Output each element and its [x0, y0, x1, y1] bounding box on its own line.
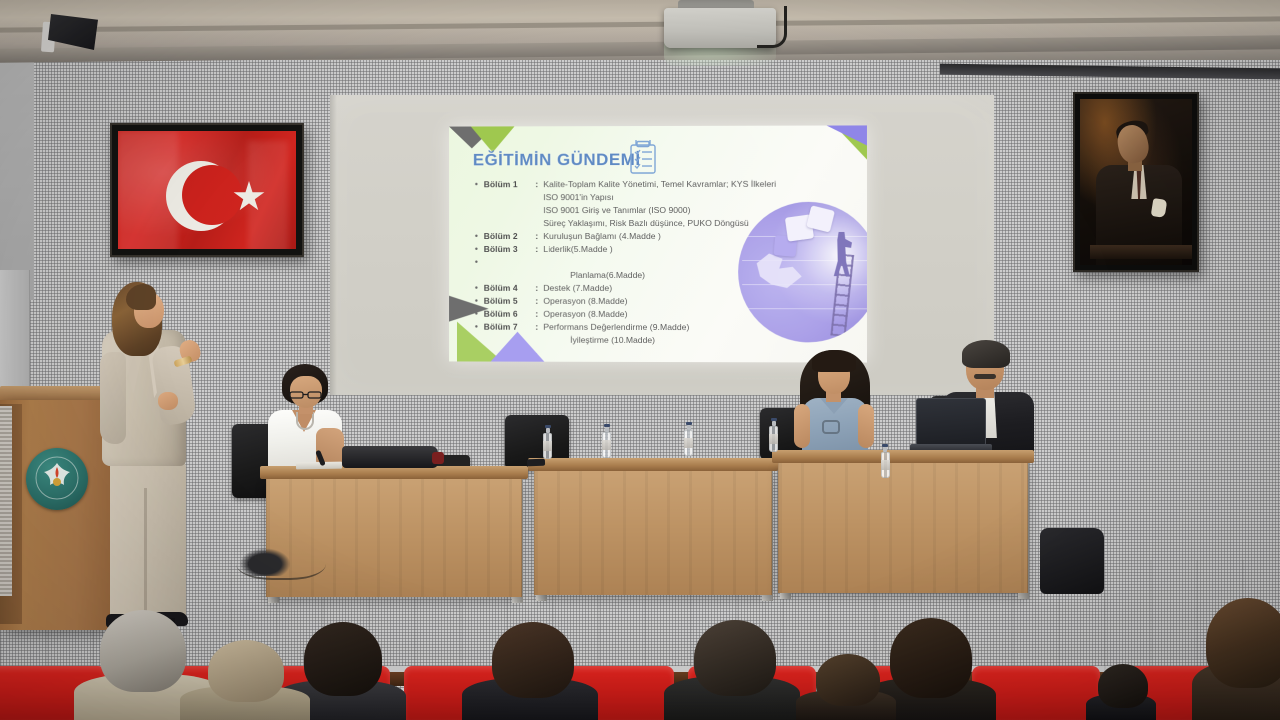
bullet-icon: •	[475, 230, 484, 243]
water-bottle[interactable]	[881, 444, 889, 478]
ataturk-portrait-frame	[1073, 92, 1199, 272]
bottle-body	[684, 430, 693, 456]
panel-table-right	[778, 463, 1028, 593]
presenter-hand-left	[158, 392, 178, 410]
agenda-subtext: İyileştirme (10.Madde)	[475, 334, 835, 348]
bottle-body	[881, 452, 890, 478]
panel-table-left	[266, 479, 522, 597]
presenter-trousers	[110, 458, 186, 618]
bullet-icon: •	[475, 295, 484, 308]
agenda-text: Operasyon (8.Madde)	[543, 295, 627, 308]
agenda-label: Bölüm 5	[484, 295, 536, 308]
audience-member-head	[1206, 598, 1280, 688]
bag-handle[interactable]	[432, 452, 444, 464]
agenda-colon: :	[535, 308, 543, 321]
presenter-leg-seam	[144, 488, 147, 618]
agenda-subtext: Planlama(6.Madde)	[475, 269, 835, 282]
agenda-item: •	[475, 256, 835, 269]
agenda-item: • Bölüm 5 : Operasyon (8.Madde)	[475, 295, 835, 308]
water-bottle[interactable]	[769, 418, 778, 452]
portrait-desk	[1090, 245, 1192, 259]
bottle-body	[543, 433, 552, 459]
torch-flower-icon	[34, 455, 80, 501]
agenda-colon: :	[535, 321, 543, 334]
agenda-label: Bölüm 1	[484, 178, 536, 191]
agenda-subtext: ISO 9001 Giriş ve Tanımlar (ISO 9000)	[475, 204, 835, 217]
panelist-3-hair	[962, 340, 1010, 368]
agenda-text: Liderlik(5.Madde )	[543, 243, 612, 256]
agenda-subtext: Süreç Yaklaşımı, Risk Bazlı düşünce, PUK…	[475, 217, 835, 230]
bullet-icon: •	[475, 308, 484, 321]
agenda-colon: :	[535, 243, 543, 256]
slide-agenda-list: • Bölüm 1 : Kalite-Toplam Kalite Yönetim…	[475, 178, 835, 348]
audience-member-head	[816, 654, 880, 706]
agenda-text: Kuruluşun Bağlamı (4.Madde )	[543, 230, 661, 243]
agenda-text: Destek (7.Madde)	[543, 282, 612, 295]
panel-table-center	[534, 471, 772, 595]
mobile-phone[interactable]	[527, 459, 545, 467]
standing-presenter	[88, 282, 208, 654]
presenter-arm-left	[100, 352, 126, 444]
audience-member-head	[694, 620, 776, 696]
panel-table-center-top	[528, 458, 778, 471]
eyeglasses-icon	[822, 420, 840, 434]
bullet-icon: •	[475, 282, 484, 295]
presentation-slide: EĞİTİMİN GÜNDEMİ • Bölüm 1 :	[449, 125, 867, 362]
conference-hall-scene: EĞİTİMİN GÜNDEMİ • Bölüm 1 :	[0, 0, 1280, 720]
bottle-body	[769, 426, 778, 452]
panelist-3-mustache	[974, 374, 996, 379]
laptop-bag[interactable]	[342, 446, 438, 468]
audience-member-head	[208, 640, 284, 702]
projection-screen-edge	[330, 95, 337, 395]
audience-member-head	[100, 610, 186, 692]
ataturk-portrait	[1080, 99, 1192, 265]
agenda-text: Operasyon (8.Madde)	[543, 308, 627, 321]
bag-on-floor	[1040, 528, 1104, 594]
panel-table-right-top	[772, 450, 1034, 463]
bottle-label	[543, 441, 552, 451]
panelist-2-arm-right	[858, 404, 874, 448]
lectern-grill	[0, 406, 12, 596]
bottle-label	[602, 440, 611, 450]
agenda-label: Bölüm 4	[484, 282, 536, 295]
agenda-label: Bölüm 3	[484, 243, 536, 256]
agenda-colon: :	[535, 295, 543, 308]
water-bottle[interactable]	[602, 424, 611, 458]
water-bottle[interactable]	[543, 425, 552, 459]
agenda-item: • Bölüm 3 : Liderlik(5.Madde )	[475, 243, 835, 256]
presenter-fringe	[126, 284, 156, 310]
university-seal	[26, 448, 88, 510]
agenda-label: Bölüm 7	[484, 321, 536, 334]
turkish-flag-frame	[110, 123, 304, 257]
audience-member-head	[492, 622, 574, 698]
projector-cable	[757, 6, 787, 48]
agenda-label: Bölüm 2	[484, 230, 536, 243]
bullet-icon: •	[475, 321, 484, 334]
agenda-text: Performans Değerlendirme (9.Madde)	[543, 321, 689, 334]
agenda-item: • Bölüm 7 : Performans Değerlendirme (9.…	[475, 321, 835, 335]
panelist-2-arm-left	[794, 404, 810, 448]
panelist-2	[790, 346, 882, 464]
audience-member-head	[1098, 664, 1148, 708]
audience-member-head	[890, 618, 972, 698]
bullet-icon: •	[475, 256, 484, 269]
audience-member-head	[304, 622, 382, 696]
bullet-icon: •	[475, 178, 484, 191]
floor-cable	[236, 540, 326, 580]
agenda-item: • Bölüm 6 : Operasyon (8.Madde)	[475, 308, 835, 322]
laptop-screen[interactable]	[916, 398, 986, 446]
clipboard-checklist-icon	[628, 140, 658, 176]
agenda-item: • Bölüm 4 : Destek (7.Madde)	[475, 282, 835, 295]
bottle-body	[602, 432, 611, 458]
bottle-label	[684, 438, 693, 448]
eyeglasses-icon	[289, 386, 323, 394]
flag-crescent-cutout	[182, 165, 242, 225]
agenda-item: • Bölüm 1 : Kalite-Toplam Kalite Yönetim…	[475, 178, 835, 191]
agenda-subtext: ISO 9001'in Yapısı	[475, 191, 835, 204]
bottle-label	[769, 434, 778, 444]
panelist-2-fringe	[812, 350, 856, 372]
slide-title: EĞİTİMİN GÜNDEMİ	[473, 150, 641, 170]
agenda-label: Bölüm 6	[484, 308, 536, 321]
agenda-colon: :	[535, 230, 543, 243]
panelist-1	[262, 364, 348, 474]
agenda-colon: :	[535, 282, 543, 295]
bullet-icon: •	[475, 243, 484, 256]
agenda-item: • Bölüm 2 : Kuruluşun Bağlamı (4.Madde )	[475, 230, 835, 243]
water-bottle[interactable]	[684, 422, 693, 456]
panelist-1-lanyard	[296, 412, 314, 430]
agenda-colon: :	[535, 178, 543, 191]
bottle-label	[881, 460, 890, 470]
turkish-flag	[118, 131, 296, 249]
agenda-text: Kalite-Toplam Kalite Yönetimi, Temel Kav…	[543, 178, 776, 191]
